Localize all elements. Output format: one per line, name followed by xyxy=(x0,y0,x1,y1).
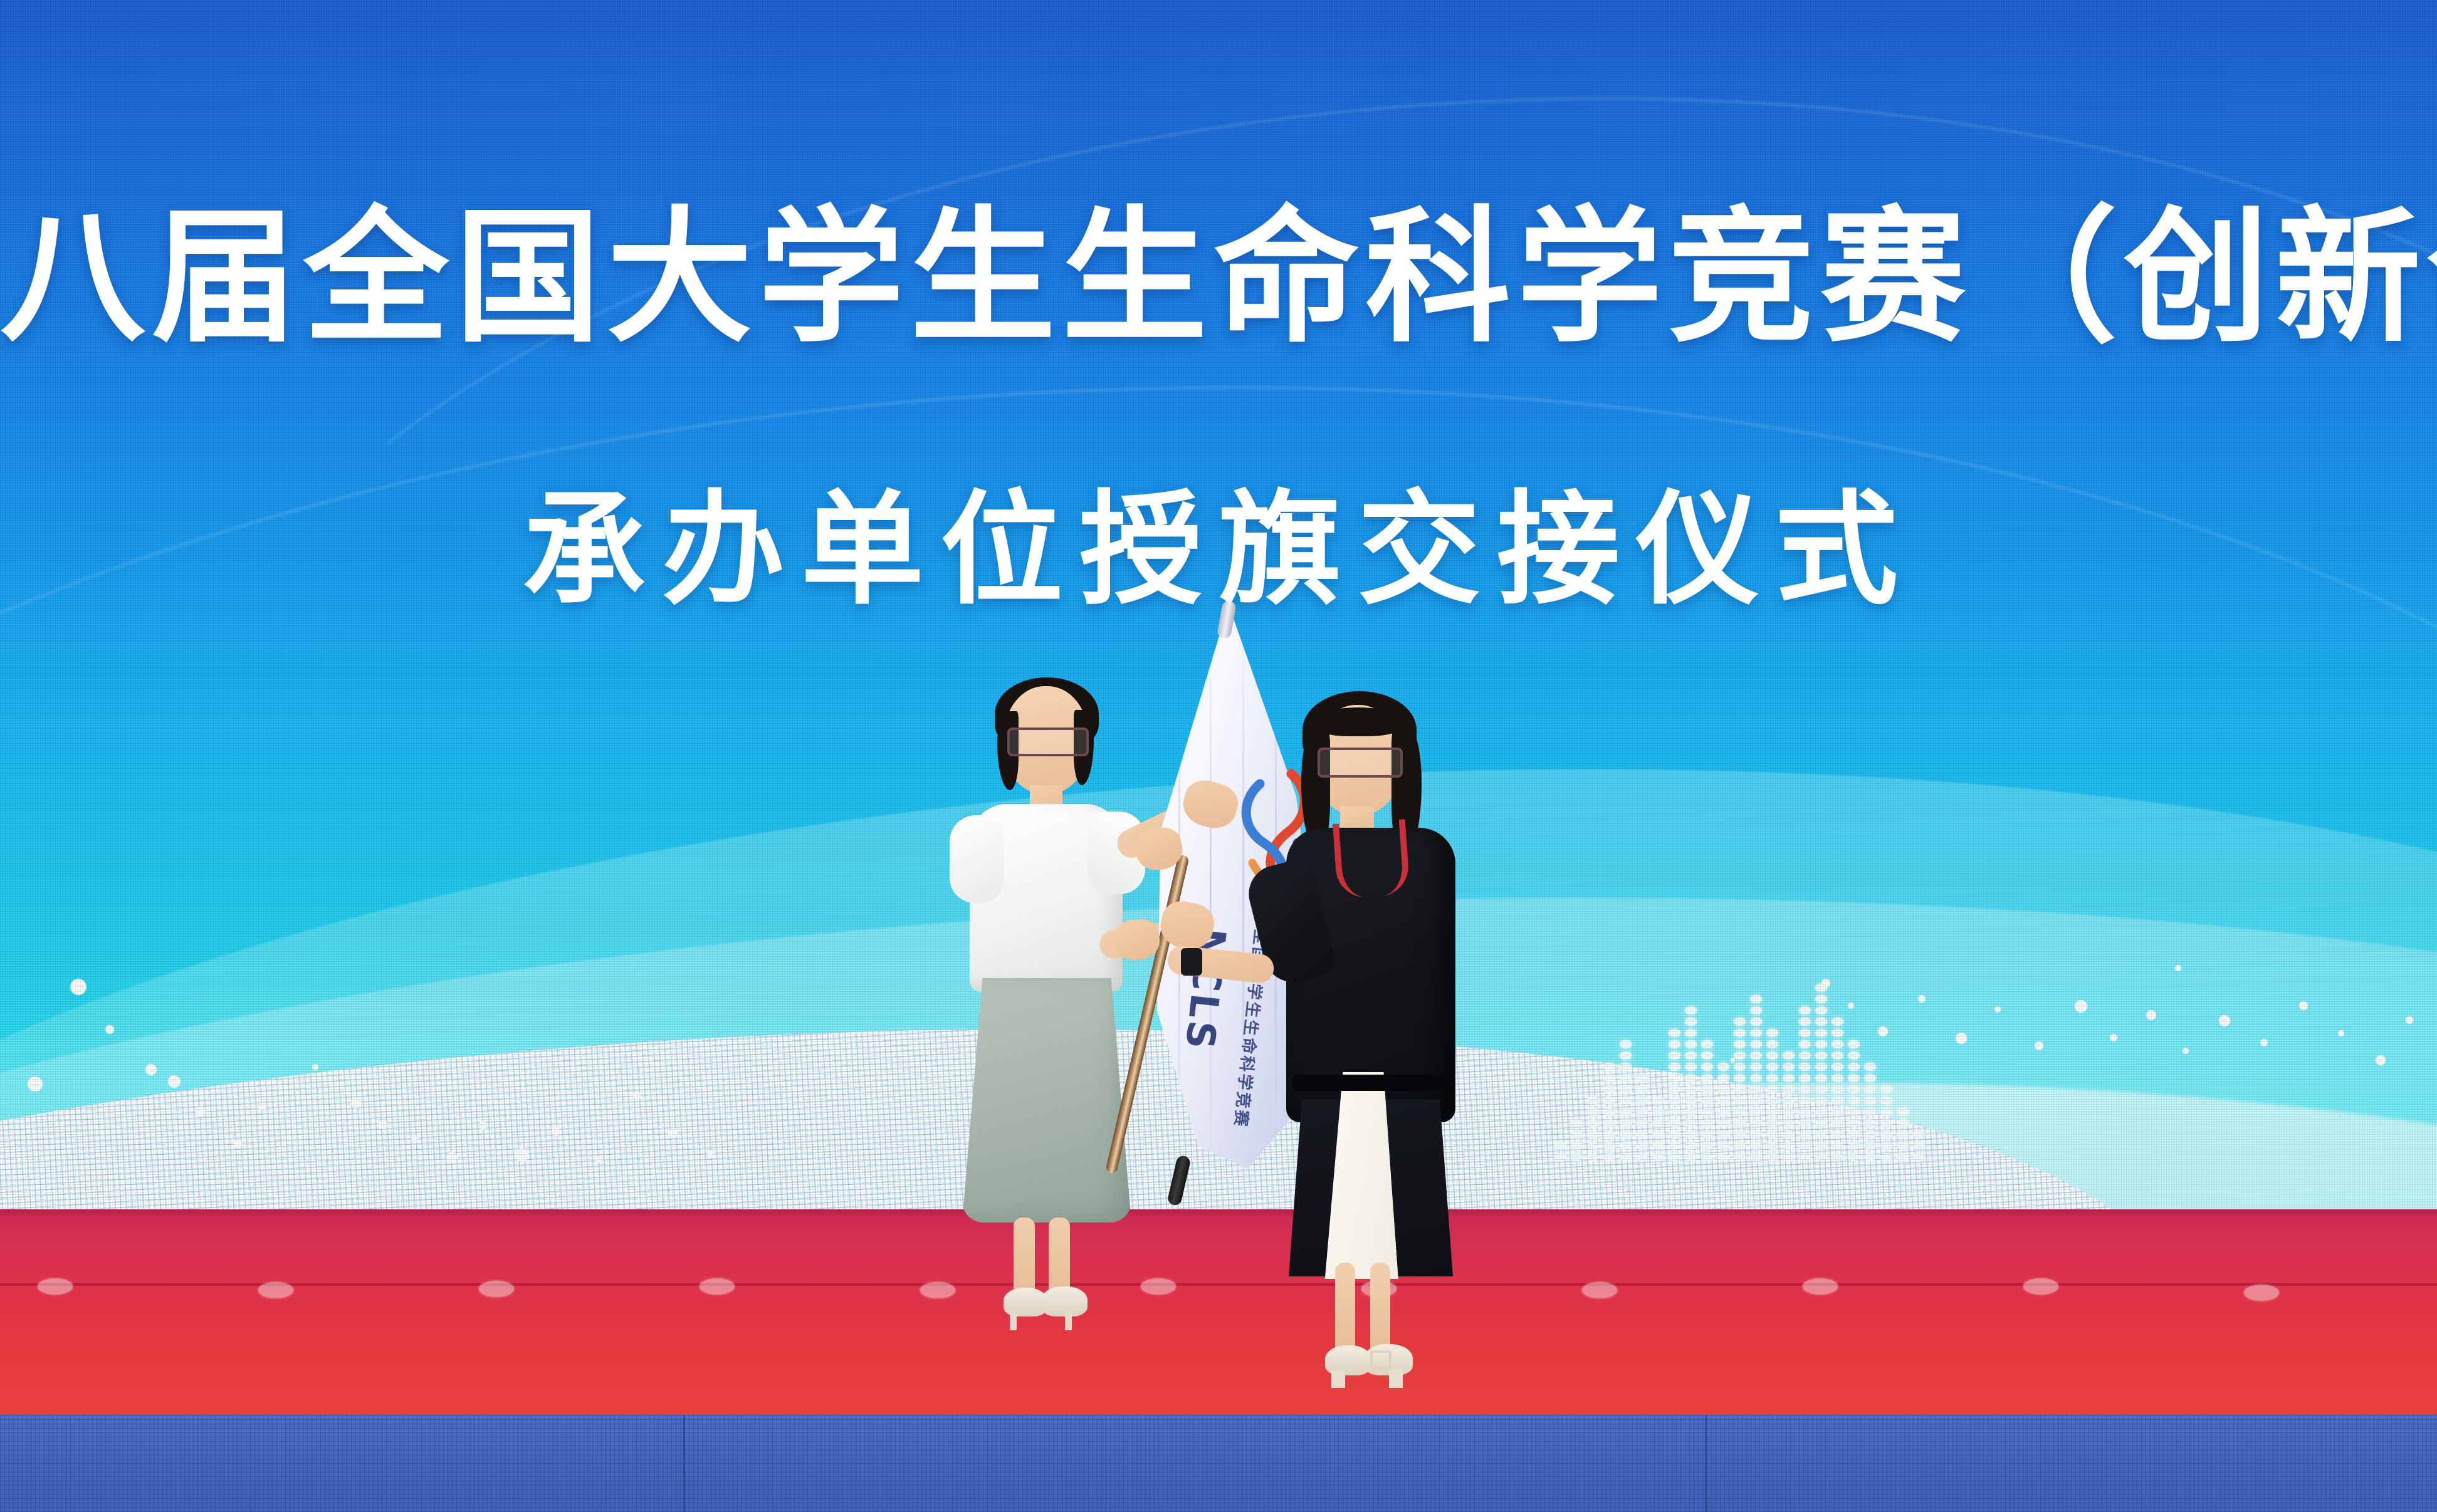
equalizer-dot xyxy=(1897,1153,1909,1161)
equalizer-dot xyxy=(1620,1119,1632,1127)
equalizer-dot xyxy=(1766,1074,1778,1082)
equalizer-bar xyxy=(1766,1029,1778,1161)
equalizer-dot xyxy=(1669,1153,1680,1161)
particle-dot xyxy=(105,1025,114,1034)
equalizer-dot xyxy=(1766,1153,1778,1161)
wristwatch xyxy=(1181,948,1202,976)
equalizer-dot xyxy=(1620,1074,1632,1082)
equalizer-dot xyxy=(1717,1097,1729,1105)
leg xyxy=(1014,1217,1035,1298)
equalizer-dot xyxy=(1750,1142,1762,1150)
equalizer-dot xyxy=(1864,1119,1876,1127)
equalizer-dot xyxy=(1685,1063,1697,1071)
floor-position-marker xyxy=(38,1278,73,1295)
equalizer-dot xyxy=(1685,1108,1697,1116)
person-right-receiver xyxy=(1241,699,1511,1319)
equalizer-dot xyxy=(1864,1130,1876,1139)
equalizer-dot xyxy=(1815,1018,1827,1026)
equalizer-dot xyxy=(1913,1130,1925,1139)
equalizer-dot xyxy=(1734,1051,1746,1060)
equalizer-dot xyxy=(1766,1108,1778,1116)
equalizer-dot xyxy=(1701,1108,1713,1116)
equalizer-dot xyxy=(1571,1142,1583,1150)
equalizer-dot xyxy=(1685,1040,1697,1048)
equalizer-bar xyxy=(1669,1029,1680,1161)
equalizer-dot xyxy=(1717,1063,1729,1071)
equalizer-dot xyxy=(1832,1051,1843,1060)
equalizer-dot xyxy=(1571,1130,1583,1139)
equalizer-dot xyxy=(1848,1074,1860,1082)
equalizer-dot xyxy=(1880,1119,1892,1127)
particle-dot xyxy=(351,1098,361,1108)
shoe-heel xyxy=(1010,1311,1017,1330)
particle-dot xyxy=(633,1092,641,1099)
equalizer-dot xyxy=(1685,1029,1697,1037)
equalizer-dot xyxy=(1734,1097,1746,1105)
equalizer-dot xyxy=(1669,1130,1680,1139)
equalizer-bar xyxy=(1636,1074,1648,1161)
equalizer-dot xyxy=(1815,1097,1827,1105)
particle-dot xyxy=(312,1064,318,1070)
equalizer-dot xyxy=(1799,1063,1811,1071)
particle-dot xyxy=(2376,1055,2386,1065)
equalizer-dot xyxy=(1636,1142,1648,1150)
equalizer-dot xyxy=(1799,1119,1811,1127)
equalizer-dot xyxy=(1897,1130,1909,1139)
particle-dot xyxy=(70,979,86,995)
equalizer-bar xyxy=(1913,1130,1925,1161)
particle-dot xyxy=(2175,965,2181,971)
equalizer-dot xyxy=(1832,1130,1843,1139)
equalizer-dot xyxy=(1652,1119,1664,1127)
equalizer-dot xyxy=(1734,1119,1746,1127)
leg xyxy=(1370,1263,1390,1357)
equalizer-dot xyxy=(1652,1153,1664,1161)
particle-dot xyxy=(2338,1030,2344,1036)
equalizer-dot xyxy=(1832,1097,1843,1105)
particle-dot xyxy=(595,1157,602,1163)
equalizer-dot xyxy=(1848,1153,1860,1161)
equalizer-dot xyxy=(1603,1063,1615,1071)
blue-venue-floor xyxy=(0,1415,2437,1512)
equalizer-dot xyxy=(1636,1130,1648,1139)
equalizer-dot xyxy=(1799,1130,1811,1139)
equalizer-dot xyxy=(1750,1074,1762,1082)
equalizer-dot xyxy=(1734,1085,1746,1093)
equalizer-dot xyxy=(1815,1051,1827,1060)
particle-dot xyxy=(668,1128,678,1138)
equalizer-dot xyxy=(1652,1142,1664,1150)
equalizer-bar xyxy=(1571,1119,1583,1161)
equalizer-dot xyxy=(1848,1130,1860,1139)
equalizer-dot xyxy=(1669,1108,1680,1116)
equalizer-dot xyxy=(1554,1142,1566,1150)
equalizer-dot xyxy=(1603,1097,1615,1105)
floor-mesh-texture xyxy=(0,1415,2437,1512)
particle-dot xyxy=(28,1077,43,1092)
equalizer-dot xyxy=(1848,1108,1860,1116)
equalizer-dot xyxy=(1848,1063,1860,1071)
equalizer-dot xyxy=(1815,1119,1827,1127)
equalizer-dot xyxy=(1815,1040,1827,1048)
equalizer-dot xyxy=(1685,1097,1697,1105)
equalizer-dot xyxy=(1685,1153,1697,1161)
equalizer-dot xyxy=(1864,1085,1876,1093)
equalizer-dot xyxy=(1864,1063,1876,1071)
particle-dot xyxy=(233,1139,242,1148)
red-lanyard xyxy=(1333,819,1410,899)
equalizer-dot xyxy=(1685,1051,1697,1060)
equalizer-dot xyxy=(1815,1085,1827,1093)
equalizer-dot xyxy=(1832,1040,1843,1048)
equalizer-dot xyxy=(1620,1142,1632,1150)
equalizer-dot xyxy=(1848,1097,1860,1105)
red-stage-carpet xyxy=(0,1209,2437,1416)
carpet-front-edge xyxy=(0,1209,2437,1218)
equalizer-dot xyxy=(1750,1063,1762,1071)
equalizer-dot xyxy=(1750,1153,1762,1161)
equalizer-dot xyxy=(1766,1051,1778,1060)
floor-seam xyxy=(1705,1415,1707,1512)
equalizer-dot xyxy=(1832,1119,1843,1127)
eyeglasses-icon xyxy=(1318,748,1403,778)
equalizer-dot xyxy=(1832,1029,1843,1037)
equalizer-dot xyxy=(1832,1108,1843,1116)
eyeglasses-icon xyxy=(1007,727,1089,756)
equalizer-dot xyxy=(1766,1119,1778,1127)
equalizer-dot xyxy=(1701,1063,1713,1071)
equalizer-dot xyxy=(1783,1074,1795,1082)
equalizer-dot xyxy=(1864,1142,1876,1150)
equalizer-dot xyxy=(1669,1142,1680,1150)
floor-position-marker xyxy=(2023,1278,2058,1295)
equalizer-bar xyxy=(1652,1097,1664,1161)
equalizer-dot xyxy=(1685,1018,1697,1026)
equalizer-dot xyxy=(1783,1119,1795,1127)
equalizer-dot xyxy=(1636,1153,1648,1161)
equalizer-bar xyxy=(1603,1063,1615,1161)
equalizer-dot xyxy=(1832,1074,1843,1082)
equalizer-bar xyxy=(1848,1040,1860,1161)
particle-dot xyxy=(515,1148,529,1162)
equalizer-dot xyxy=(1864,1074,1876,1082)
equalizer-dot xyxy=(1620,1040,1632,1048)
equalizer-dot xyxy=(1701,1074,1713,1082)
equalizer-dot xyxy=(1587,1119,1599,1127)
equalizer-dot xyxy=(1587,1130,1599,1139)
equalizer-dot xyxy=(1815,1029,1827,1037)
particle-dot xyxy=(1994,1006,2001,1013)
equalizer-bar xyxy=(1554,1142,1566,1161)
equalizer-dot xyxy=(1897,1108,1909,1116)
equalizer-dot xyxy=(1603,1142,1615,1150)
floor-position-marker xyxy=(479,1281,514,1297)
equalizer-dot xyxy=(1603,1130,1615,1139)
equalizer-dot xyxy=(1701,1142,1713,1150)
equalizer-dot xyxy=(1864,1108,1876,1116)
equalizer-dot xyxy=(1603,1153,1615,1161)
equalizer-dot xyxy=(1669,1085,1680,1093)
equalizer-dot xyxy=(1799,1108,1811,1116)
equalizer-dot xyxy=(1587,1153,1599,1161)
equalizer-dot xyxy=(1717,1153,1729,1161)
equalizer-dot xyxy=(1734,1074,1746,1082)
equalizer-dot xyxy=(1799,1040,1811,1048)
equalizer-dot xyxy=(1750,995,1762,1003)
equalizer-dot xyxy=(1750,1108,1762,1116)
particle-dot xyxy=(2146,1010,2156,1020)
equalizer-dot xyxy=(1734,1142,1746,1150)
particle-dot xyxy=(196,1107,206,1117)
equalizer-dot xyxy=(1587,1142,1599,1150)
equalizer-dot xyxy=(1669,1051,1680,1060)
equalizer-bar xyxy=(1864,1063,1876,1161)
equalizer-dot xyxy=(1848,1040,1860,1048)
particle-dot xyxy=(258,1103,266,1110)
particle-dot xyxy=(145,1064,157,1075)
equalizer-dot xyxy=(1685,1119,1697,1127)
equalizer-dot xyxy=(1571,1119,1583,1127)
equalizer-dot xyxy=(1783,1153,1795,1161)
equalizer-dot xyxy=(1913,1142,1925,1150)
equalizer-dot xyxy=(1766,1097,1778,1105)
equalizer-dot xyxy=(1685,1130,1697,1139)
leg xyxy=(1335,1263,1355,1357)
particle-dot xyxy=(707,1150,715,1158)
equalizer-dot xyxy=(1880,1097,1892,1105)
equalizer-dot xyxy=(1783,1142,1795,1150)
dot-matrix-equalizer xyxy=(1554,984,1925,1161)
equalizer-bar xyxy=(1620,1040,1632,1161)
equalizer-dot xyxy=(1832,1142,1843,1150)
equalizer-bar xyxy=(1717,1063,1729,1161)
equalizer-dot xyxy=(1880,1153,1892,1161)
equalizer-dot xyxy=(1587,1108,1599,1116)
equalizer-dot xyxy=(1815,1142,1827,1150)
equalizer-dot xyxy=(1636,1119,1648,1127)
equalizer-dot xyxy=(1603,1119,1615,1127)
equalizer-dot xyxy=(1815,1063,1827,1071)
equalizer-dot xyxy=(1652,1130,1664,1139)
equalizer-dot xyxy=(1766,1130,1778,1139)
equalizer-dot xyxy=(1652,1108,1664,1116)
particle-dot xyxy=(2299,1001,2308,1010)
equalizer-dot xyxy=(1717,1142,1729,1150)
equalizer-dot xyxy=(1701,1130,1713,1139)
equalizer-dot xyxy=(1799,1097,1811,1105)
equalizer-dot xyxy=(1636,1085,1648,1093)
floor-seam xyxy=(683,1415,685,1512)
event-headline: 八届全国大学生生命科学竞赛（创新创 xyxy=(0,199,2437,356)
carpet-seam-line xyxy=(0,1283,2437,1286)
floor-position-marker xyxy=(258,1282,293,1298)
equalizer-dot xyxy=(1750,1006,1762,1014)
shoe-heel xyxy=(1065,1310,1072,1330)
equalizer-dot xyxy=(1717,1074,1729,1082)
equalizer-dot xyxy=(1685,1074,1697,1082)
equalizer-dot xyxy=(1669,1063,1680,1071)
equalizer-dot xyxy=(1554,1153,1566,1161)
equalizer-dot xyxy=(1701,1119,1713,1127)
equalizer-bar xyxy=(1685,1006,1697,1161)
equalizer-dot xyxy=(1815,984,1827,992)
equalizer-dot xyxy=(1783,1130,1795,1139)
equalizer-dot xyxy=(1880,1142,1892,1150)
equalizer-dot xyxy=(1701,1097,1713,1105)
black-belt xyxy=(1292,1075,1449,1091)
equalizer-dot xyxy=(1880,1085,1892,1093)
equalizer-bar xyxy=(1783,1051,1795,1161)
ceremony-photo: 八届全国大学生生命科学竞赛（创新创 承办单位授旗交接仪式 xyxy=(0,0,2437,1512)
equalizer-dot xyxy=(1783,1108,1795,1116)
equalizer-bar xyxy=(1897,1108,1909,1161)
equalizer-dot xyxy=(1766,1085,1778,1093)
equalizer-dot xyxy=(1880,1108,1892,1116)
equalizer-dot xyxy=(1717,1119,1729,1127)
equalizer-dot xyxy=(1832,1063,1843,1071)
equalizer-dot xyxy=(1636,1097,1648,1105)
equalizer-dot xyxy=(1815,1006,1827,1014)
equalizer-dot xyxy=(1815,1074,1827,1082)
equalizer-dot xyxy=(1571,1153,1583,1161)
equalizer-dot xyxy=(1766,1040,1778,1048)
particle-dot xyxy=(1956,1033,1967,1044)
equalizer-dot xyxy=(1734,1040,1746,1048)
equalizer-dot xyxy=(1750,1051,1762,1060)
equalizer-dot xyxy=(1864,1153,1876,1161)
particle-dot xyxy=(2183,1048,2189,1054)
particle-dot xyxy=(552,1127,560,1135)
equalizer-dot xyxy=(1717,1130,1729,1139)
equalizer-dot xyxy=(1669,1040,1680,1048)
equalizer-dot xyxy=(1620,1108,1632,1116)
equalizer-dot xyxy=(1815,1108,1827,1116)
equalizer-dot xyxy=(1685,1085,1697,1093)
equalizer-dot xyxy=(1880,1130,1892,1139)
particle-dot xyxy=(2075,1000,2087,1013)
equalizer-dot xyxy=(1799,1051,1811,1060)
equalizer-dot xyxy=(1799,1006,1811,1014)
equalizer-dot xyxy=(1750,1097,1762,1105)
equalizer-dot xyxy=(1620,1063,1632,1071)
equalizer-dot xyxy=(1734,1153,1746,1161)
equalizer-dot xyxy=(1913,1153,1925,1161)
grey-skirt xyxy=(962,978,1131,1223)
equalizer-dot xyxy=(1750,1029,1762,1037)
equalizer-dot xyxy=(1669,1074,1680,1082)
shoe-heel xyxy=(1389,1369,1403,1388)
equalizer-dot xyxy=(1620,1097,1632,1105)
equalizer-dot xyxy=(1783,1051,1795,1060)
equalizer-bar xyxy=(1799,1006,1811,1161)
equalizer-dot xyxy=(1734,1063,1746,1071)
floor-position-marker xyxy=(700,1278,735,1295)
equalizer-dot xyxy=(1799,1074,1811,1082)
floor-position-marker xyxy=(1803,1278,1838,1295)
particle-dot xyxy=(168,1075,181,1088)
equalizer-dot xyxy=(1783,1085,1795,1093)
high-heel-shoe xyxy=(1041,1286,1087,1316)
equalizer-dot xyxy=(1620,1085,1632,1093)
equalizer-dot xyxy=(1897,1142,1909,1150)
equalizer-dot xyxy=(1750,1085,1762,1093)
floor-position-marker xyxy=(1582,1282,1617,1298)
floor-position-marker xyxy=(2244,1285,2279,1301)
equalizer-dot xyxy=(1799,1153,1811,1161)
equalizer-dot xyxy=(1734,1108,1746,1116)
equalizer-dot xyxy=(1832,1085,1843,1093)
equalizer-dot xyxy=(1636,1074,1648,1082)
equalizer-dot xyxy=(1766,1029,1778,1037)
equalizer-dot xyxy=(1799,1018,1811,1026)
equalizer-dot xyxy=(1750,1130,1762,1139)
equalizer-dot xyxy=(1848,1085,1860,1093)
equalizer-dot xyxy=(1620,1051,1632,1060)
equalizer-bar xyxy=(1587,1097,1599,1161)
equalizer-dot xyxy=(1848,1051,1860,1060)
equalizer-bar xyxy=(1734,1018,1746,1161)
equalizer-dot xyxy=(1750,1018,1762,1026)
equalizer-dot xyxy=(1717,1085,1729,1093)
equalizer-dot xyxy=(1815,1130,1827,1139)
equalizer-dot xyxy=(1603,1108,1615,1116)
particle-dot xyxy=(446,1152,458,1163)
equalizer-dot xyxy=(1620,1130,1632,1139)
shoe-buckle-icon xyxy=(1370,1350,1391,1369)
leg xyxy=(1049,1217,1070,1298)
event-subtitle: 承办单位授旗交接仪式 xyxy=(0,482,2437,618)
equalizer-dot xyxy=(1832,1018,1843,1026)
shoe-heel xyxy=(1331,1370,1345,1388)
equalizer-dot xyxy=(1815,995,1827,1003)
equalizer-dot xyxy=(1897,1119,1909,1127)
equalizer-dot xyxy=(1620,1153,1632,1161)
particle-dot xyxy=(479,1122,486,1129)
equalizer-bar xyxy=(1815,984,1827,1161)
equalizer-dot xyxy=(1685,1006,1697,1014)
equalizer-dot xyxy=(1734,1130,1746,1139)
equalizer-dot xyxy=(1669,1097,1680,1105)
equalizer-dot xyxy=(1832,1153,1843,1161)
equalizer-dot xyxy=(1848,1119,1860,1127)
equalizer-dot xyxy=(1603,1074,1615,1082)
equalizer-dot xyxy=(1669,1029,1680,1037)
equalizer-dot xyxy=(1766,1063,1778,1071)
equalizer-dot xyxy=(1799,1085,1811,1093)
equalizer-dot xyxy=(1815,1153,1827,1161)
equalizer-dot xyxy=(1652,1097,1664,1105)
equalizer-dot xyxy=(1848,1142,1860,1150)
equalizer-dot xyxy=(1717,1108,1729,1116)
equalizer-dot xyxy=(1685,1142,1697,1150)
equalizer-dot xyxy=(1799,1029,1811,1037)
equalizer-bar xyxy=(1750,995,1762,1161)
blouse-sleeve-left xyxy=(950,815,1004,903)
equalizer-dot xyxy=(1587,1097,1599,1105)
equalizer-dot xyxy=(1701,1153,1713,1161)
particle-dot xyxy=(2035,1041,2043,1050)
particle-dot xyxy=(379,1120,387,1129)
equalizer-dot xyxy=(1701,1040,1713,1048)
equalizer-bar xyxy=(1701,1040,1713,1161)
particle-dot xyxy=(2260,1039,2268,1046)
equalizer-bar xyxy=(1832,1018,1843,1161)
equalizer-dot xyxy=(1603,1085,1615,1093)
equalizer-dot xyxy=(1701,1085,1713,1093)
equalizer-dot xyxy=(1750,1040,1762,1048)
equalizer-dot xyxy=(1734,1029,1746,1037)
particle-dot xyxy=(411,1135,419,1143)
